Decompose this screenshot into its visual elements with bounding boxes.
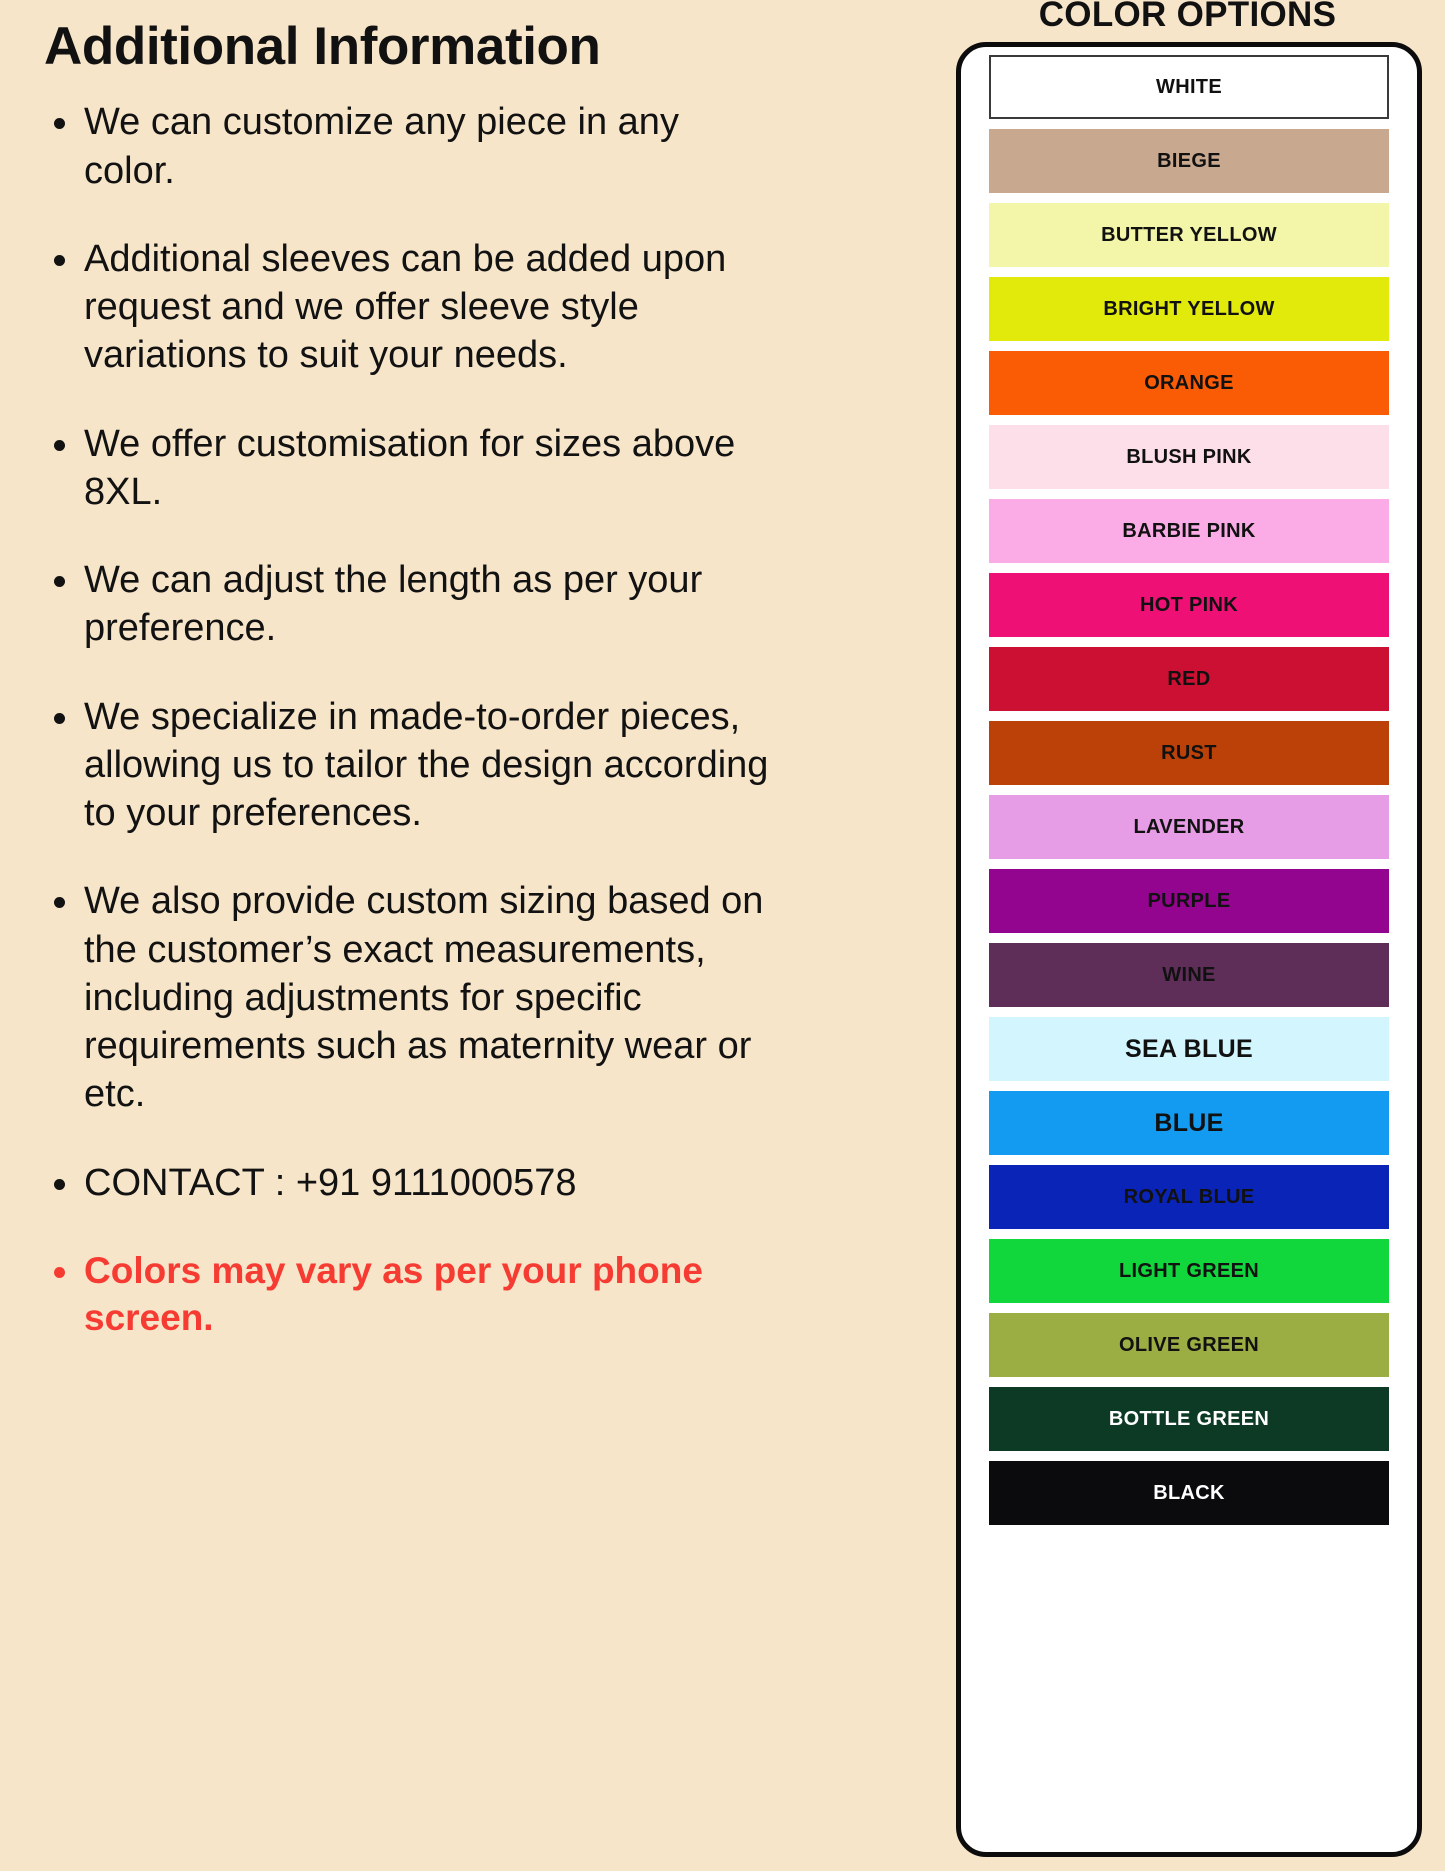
color-swatch-label: BUTTER YELLOW bbox=[1101, 224, 1277, 247]
color-swatch-label: BIEGE bbox=[1157, 150, 1221, 173]
color-swatch[interactable]: HOT PINK bbox=[989, 573, 1389, 637]
color-swatch-label: BARBIE PINK bbox=[1122, 520, 1255, 543]
color-swatch-label: BLACK bbox=[1153, 1482, 1225, 1505]
color-swatch[interactable]: RED bbox=[989, 647, 1389, 711]
color-swatch-label: LAVENDER bbox=[1134, 816, 1245, 839]
color-swatch[interactable]: BOTTLE GREEN bbox=[989, 1387, 1389, 1451]
color-swatch[interactable]: BIEGE bbox=[989, 129, 1389, 193]
color-swatch[interactable]: BLUE bbox=[989, 1091, 1389, 1155]
color-swatch-label: SEA BLUE bbox=[1125, 1035, 1253, 1064]
color-options-title: COLOR OPTIONS bbox=[930, 0, 1445, 35]
color-swatch-label: BLUSH PINK bbox=[1126, 446, 1251, 469]
infographic-page: Additional Information We can customize … bbox=[0, 0, 1445, 1871]
color-swatch-label: BLUE bbox=[1154, 1109, 1223, 1138]
color-swatch-label: BRIGHT YELLOW bbox=[1103, 298, 1274, 321]
color-swatch-label: LIGHT GREEN bbox=[1119, 1260, 1259, 1283]
list-item: We can adjust the length as per your pre… bbox=[44, 556, 770, 653]
list-item: We can customize any piece in any color. bbox=[44, 98, 770, 195]
color-swatch[interactable]: ORANGE bbox=[989, 351, 1389, 415]
color-swatch-label: RED bbox=[1167, 668, 1210, 691]
page-title: Additional Information bbox=[44, 18, 770, 76]
list-item: We offer customisation for sizes above 8… bbox=[44, 420, 770, 517]
list-item: Additional sleeves can be added upon req… bbox=[44, 235, 770, 380]
color-swatch-label: ROYAL BLUE bbox=[1124, 1186, 1255, 1209]
color-swatch[interactable]: WHITE bbox=[989, 55, 1389, 119]
color-swatch[interactable]: PURPLE bbox=[989, 869, 1389, 933]
color-swatch[interactable]: BLACK bbox=[989, 1461, 1389, 1525]
additional-information-list: We can customize any piece in any color.… bbox=[44, 98, 770, 1341]
color-swatch-label: OLIVE GREEN bbox=[1119, 1334, 1259, 1357]
list-item: CONTACT : +91 9111000578 bbox=[44, 1159, 770, 1207]
color-options-panel: COLOR OPTIONS WHITEBIEGEBUTTER YELLOWBRI… bbox=[930, 0, 1445, 1871]
color-swatch-label: BOTTLE GREEN bbox=[1109, 1408, 1269, 1431]
color-swatch[interactable]: BUTTER YELLOW bbox=[989, 203, 1389, 267]
color-swatch-label: WINE bbox=[1162, 964, 1215, 987]
additional-information-panel: Additional Information We can customize … bbox=[0, 0, 790, 1871]
color-swatch[interactable]: LAVENDER bbox=[989, 795, 1389, 859]
color-swatch[interactable]: BLUSH PINK bbox=[989, 425, 1389, 489]
color-swatch[interactable]: SEA BLUE bbox=[989, 1017, 1389, 1081]
color-swatch-label: HOT PINK bbox=[1140, 594, 1238, 617]
color-swatch[interactable]: LIGHT GREEN bbox=[989, 1239, 1389, 1303]
color-swatch-list: WHITEBIEGEBUTTER YELLOWBRIGHT YELLOWORAN… bbox=[956, 42, 1422, 1857]
color-swatch[interactable]: BARBIE PINK bbox=[989, 499, 1389, 563]
color-swatch-label: PURPLE bbox=[1148, 890, 1231, 913]
color-swatch-label: RUST bbox=[1161, 742, 1217, 765]
color-swatch[interactable]: ROYAL BLUE bbox=[989, 1165, 1389, 1229]
color-swatch[interactable]: WINE bbox=[989, 943, 1389, 1007]
color-swatch[interactable]: OLIVE GREEN bbox=[989, 1313, 1389, 1377]
list-item: We also provide custom sizing based on t… bbox=[44, 877, 770, 1118]
list-item-warning: Colors may vary as per your phone screen… bbox=[44, 1247, 770, 1342]
list-item: We specialize in made-to-order pieces, a… bbox=[44, 693, 770, 838]
color-swatch[interactable]: BRIGHT YELLOW bbox=[989, 277, 1389, 341]
color-swatch-label: ORANGE bbox=[1144, 372, 1234, 395]
color-swatch-label: WHITE bbox=[1156, 76, 1222, 99]
color-swatch[interactable]: RUST bbox=[989, 721, 1389, 785]
